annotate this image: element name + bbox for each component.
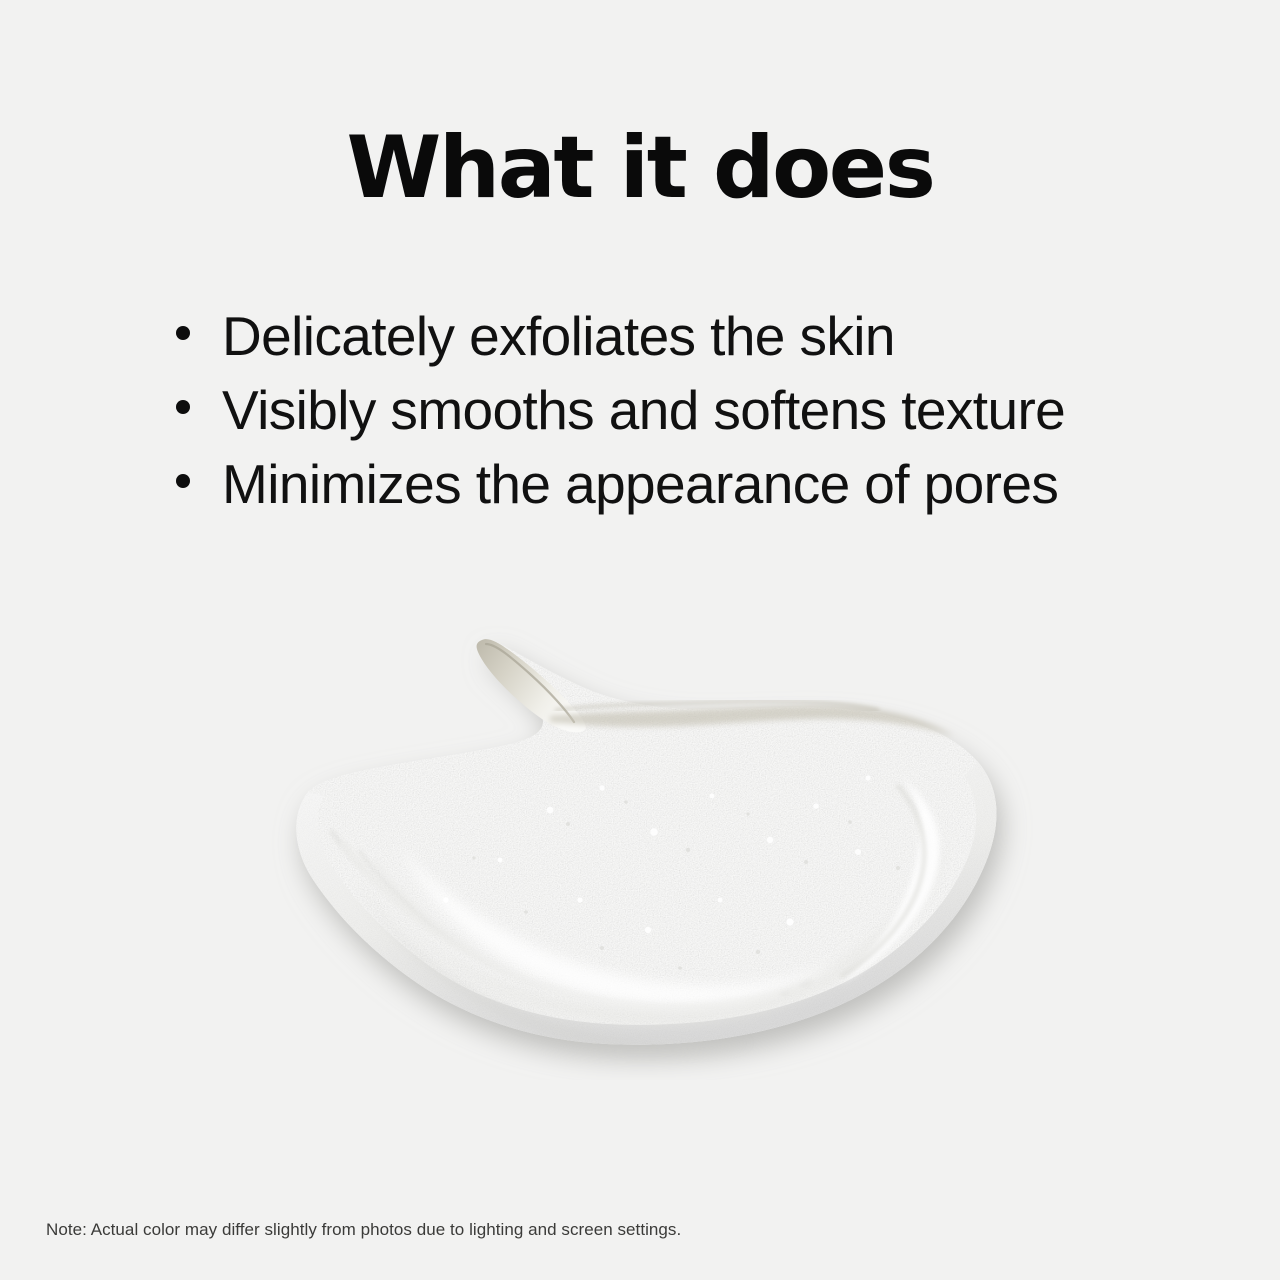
product-benefits-card: What it does Delicately exfoliates the s… [0,0,1280,1280]
list-item: Minimizes the appearance of pores [176,448,1236,522]
benefits-list: Delicately exfoliates the skin Visibly s… [176,300,1236,522]
cream-swatch-illustration [250,600,1050,1080]
benefit-label: Delicately exfoliates the skin [222,300,895,372]
list-item: Delicately exfoliates the skin [176,300,1236,374]
page-title: What it does [0,120,1280,216]
disclaimer-note: Note: Actual color may differ slightly f… [46,1220,681,1240]
bullet-dot-icon [176,400,190,414]
benefit-label: Visibly smooths and softens texture [222,374,1065,446]
bullet-dot-icon [176,326,190,340]
product-swatch-image [250,600,1050,1080]
list-item: Visibly smooths and softens texture [176,374,1236,448]
bullet-dot-icon [176,474,190,488]
benefit-label: Minimizes the appearance of pores [222,448,1058,520]
